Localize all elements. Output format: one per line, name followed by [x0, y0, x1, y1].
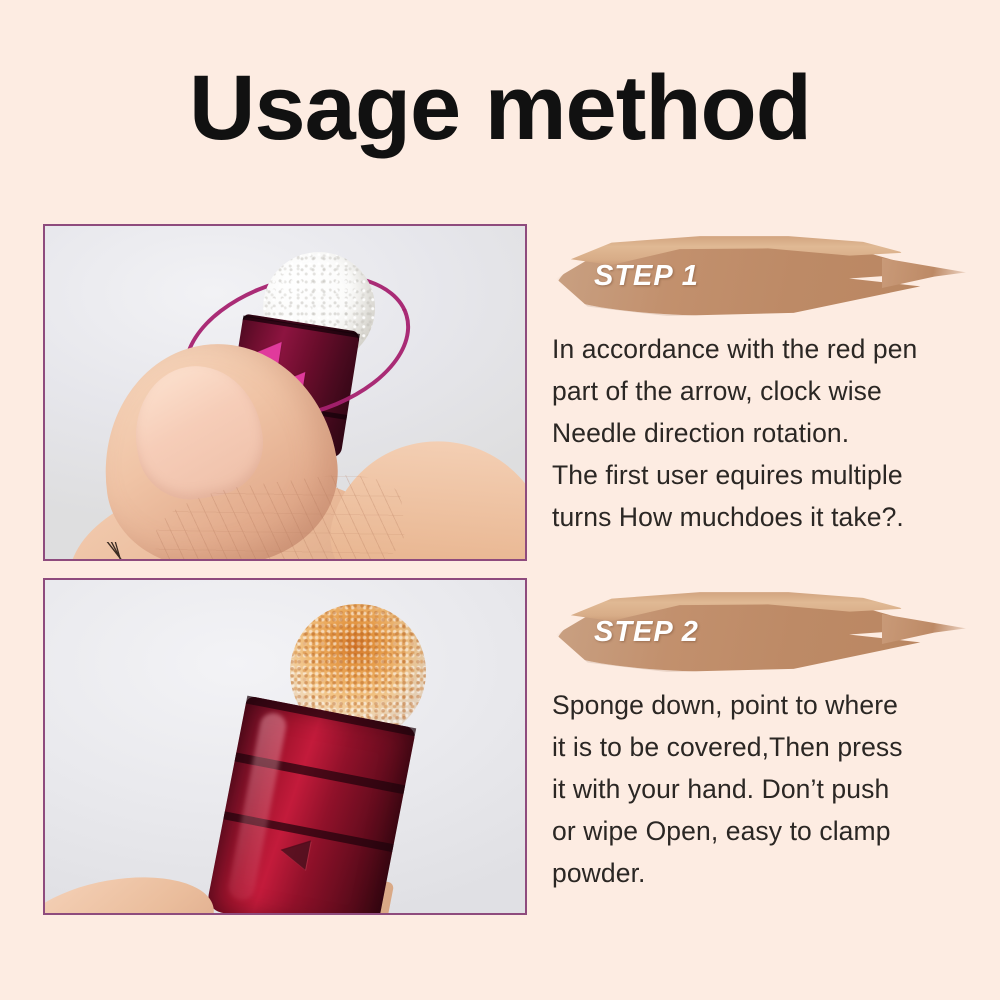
step-1-description: In accordance with the red pen part of t…: [552, 328, 964, 538]
step-2-line-5: powder.: [552, 852, 964, 894]
step-2-line-3: it with your hand. Don’t push: [552, 768, 964, 810]
step-1-line-4: The first user equires multiple: [552, 454, 964, 496]
step-1-line-2: part of the arrow, clock wise: [552, 370, 964, 412]
step-1-photo: [45, 226, 525, 559]
step-1-line-5: turns How muchdoes it take?.: [552, 496, 964, 538]
step-2-line-4: or wipe Open, easy to clamp: [552, 810, 964, 852]
step-2-line-1: Sponge down, point to where: [552, 684, 964, 726]
step-2-description: Sponge down, point to where it is to be …: [552, 684, 964, 894]
foundation-smear-tail: [882, 258, 966, 288]
hair-detail: [103, 542, 139, 559]
step-1-photo-panel: [43, 224, 527, 561]
step-1-block: STEP 1 In accordance with the red pen pa…: [552, 222, 982, 538]
step-2-block: STEP 2 Sponge down, point to where it is…: [552, 578, 982, 894]
step-2-line-2: it is to be covered,Then press: [552, 726, 964, 768]
step-2-photo: [45, 580, 525, 913]
embossed-arrow-icon: [278, 835, 311, 870]
step-1-line-3: Needle direction rotation.: [552, 412, 964, 454]
step-2-swatch: STEP 2: [552, 578, 972, 674]
step-2-photo-panel: [43, 578, 527, 915]
page-title: Usage method: [0, 62, 1000, 154]
step-1-line-1: In accordance with the red pen: [552, 328, 964, 370]
foundation-smear-tail: [882, 614, 966, 644]
step-1-swatch: STEP 1: [552, 222, 972, 318]
step-2-label: STEP 2: [594, 616, 699, 649]
step-1-label: STEP 1: [594, 260, 699, 293]
